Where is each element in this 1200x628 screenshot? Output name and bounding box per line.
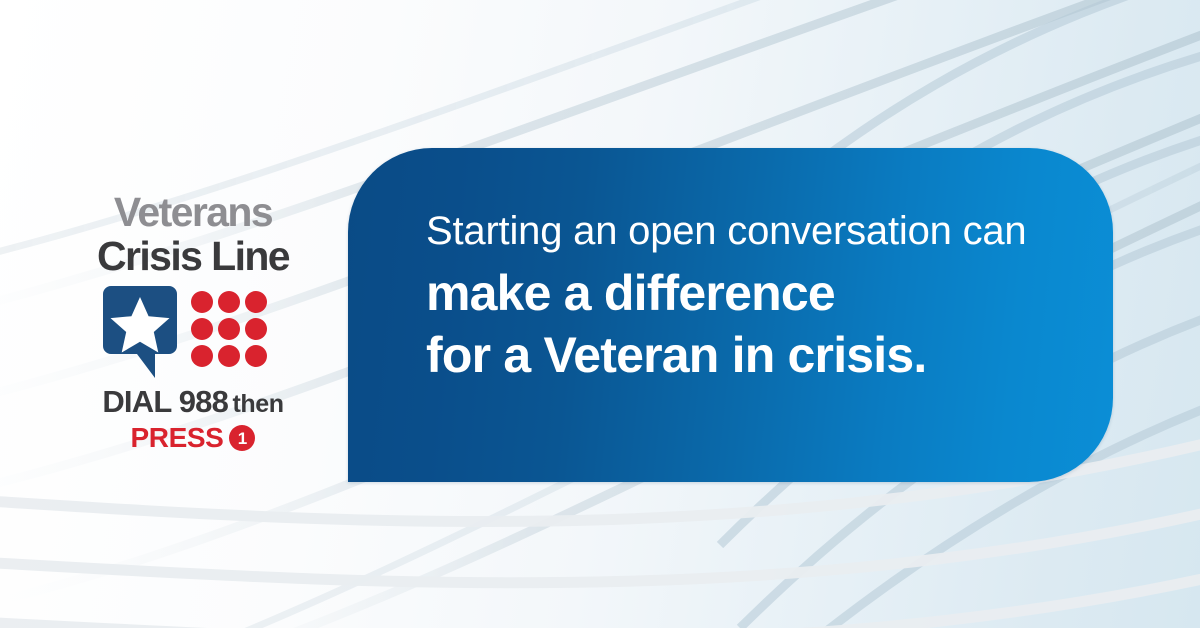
press-number-badge: 1 (229, 425, 255, 451)
dial-988-text: DIAL 988 (102, 384, 228, 419)
headline-line-1: Starting an open conversation can (426, 204, 1073, 258)
headline-line-3: for a Veteran in crisis. (426, 324, 1073, 386)
press-text: PRESS (131, 422, 224, 454)
keypad-dots-icon (191, 291, 267, 367)
message-panel-content: Starting an open conversation can make a… (426, 204, 1073, 386)
logo-mark (88, 286, 298, 378)
veterans-crisis-line-logo: Veterans Crisis Line DIAL 988 then (88, 190, 298, 440)
dial-then-text: then (232, 390, 283, 418)
wordmark-veterans: Veterans (88, 190, 298, 234)
wordmark-crisis-line: Crisis Line (88, 234, 298, 278)
headline-line-2: make a difference (426, 262, 1073, 324)
poster-canvas: Veterans Crisis Line DIAL 988 then (0, 0, 1200, 628)
speech-bubble-star-icon (103, 286, 185, 378)
logo-wordmark: Veterans Crisis Line (88, 190, 298, 278)
logo-press-line: PRESS 1 (88, 422, 298, 454)
message-panel: Starting an open conversation can make a… (348, 148, 1113, 482)
logo-dial-line: DIAL 988 then (88, 384, 298, 420)
